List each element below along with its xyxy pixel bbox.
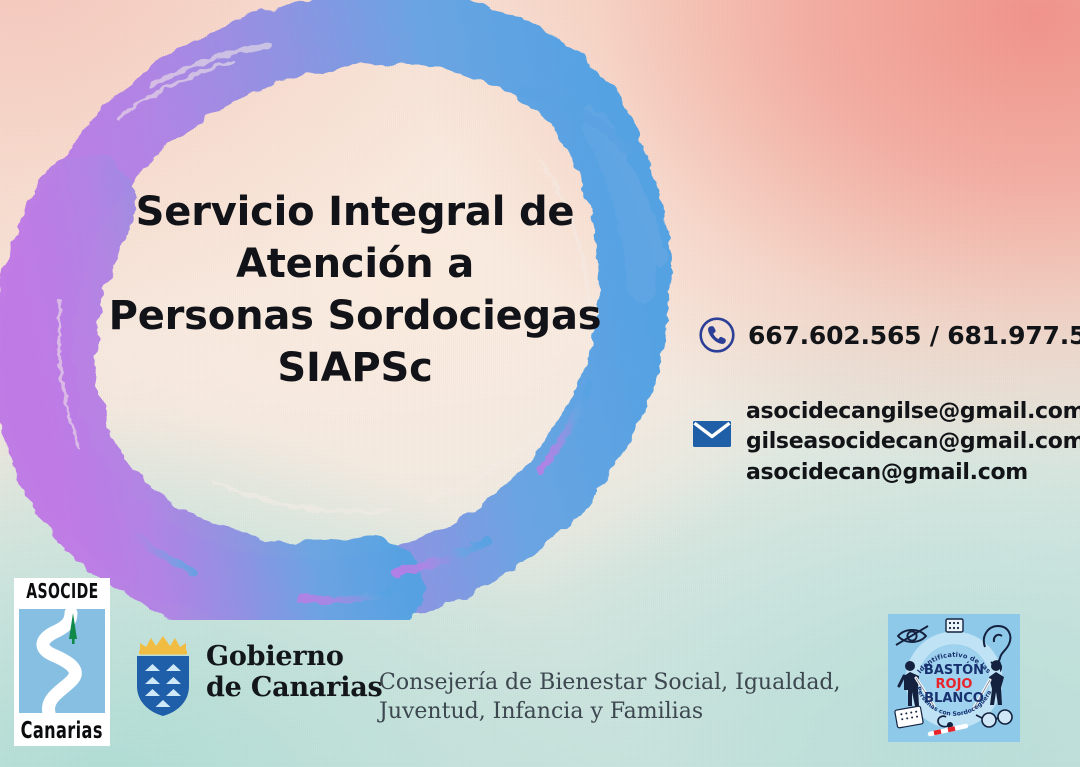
title-line-4: SIAPSc [60,342,650,394]
email-contact[interactable]: asocidecangilse@gmail.com gilseasocideca… [692,393,1080,488]
baston-rojo-blanco-logo: Identificativo de las Personas con Sordo… [888,614,1020,742]
email-list: asocidecangilse@gmail.com gilseasocideca… [746,393,1080,488]
gobierno-line-1: Gobierno [206,642,383,673]
consejeria-line-1: Consejería de Bienestar Social, Igualdad… [379,668,841,697]
title-line-3: Personas Sordociegas [60,290,650,342]
asocide-path-tree-icon [19,609,105,713]
consejeria-caption: Consejería de Bienestar Social, Igualdad… [379,668,841,727]
baston-word-1: BASTÓN [924,662,984,678]
braille-page-icon [895,706,924,728]
gobierno-wordmark: Gobierno de Canarias [206,642,383,704]
email-line-1: asocidecangilse@gmail.com [746,397,1080,427]
canarias-coat-of-arms-icon [132,630,194,716]
asocide-wordmark: ASOCIDE [26,581,98,601]
title-line-1: Servicio Integral de [60,186,650,238]
asocide-canarias-logo: ASOCIDE Canarias [14,578,110,746]
email-line-2: gilseasocidecan@gmail.com [746,427,1080,457]
email-line-3: asocidecan@gmail.com [746,458,1080,488]
gobierno-line-2: de Canarias [206,673,383,704]
braille-hands-icon [946,619,963,632]
baston-word-3: BLANCO [924,691,984,706]
page-title: Servicio Integral de Atención a Personas… [60,186,650,394]
envelope-icon [692,419,732,449]
canarias-wordmark: Canarias [21,720,103,743]
baston-rojo-blanco-emblem: Identificativo de las Personas con Sordo… [888,614,1020,742]
gobierno-de-canarias-logo: Gobierno de Canarias [132,630,383,716]
poster-canvas: Servicio Integral de Atención a Personas… [0,0,1080,767]
baston-word-2: ROJO [936,677,973,692]
consejeria-line-2: Juventud, Infancia y Familias [379,697,841,726]
phone-numbers: 667.602.565 / 681.977.590 [748,321,1080,350]
phone-in-circle-icon [698,316,736,354]
phone-contact[interactable]: 667.602.565 / 681.977.590 [698,316,1080,354]
title-line-2: Atención a [60,238,650,290]
